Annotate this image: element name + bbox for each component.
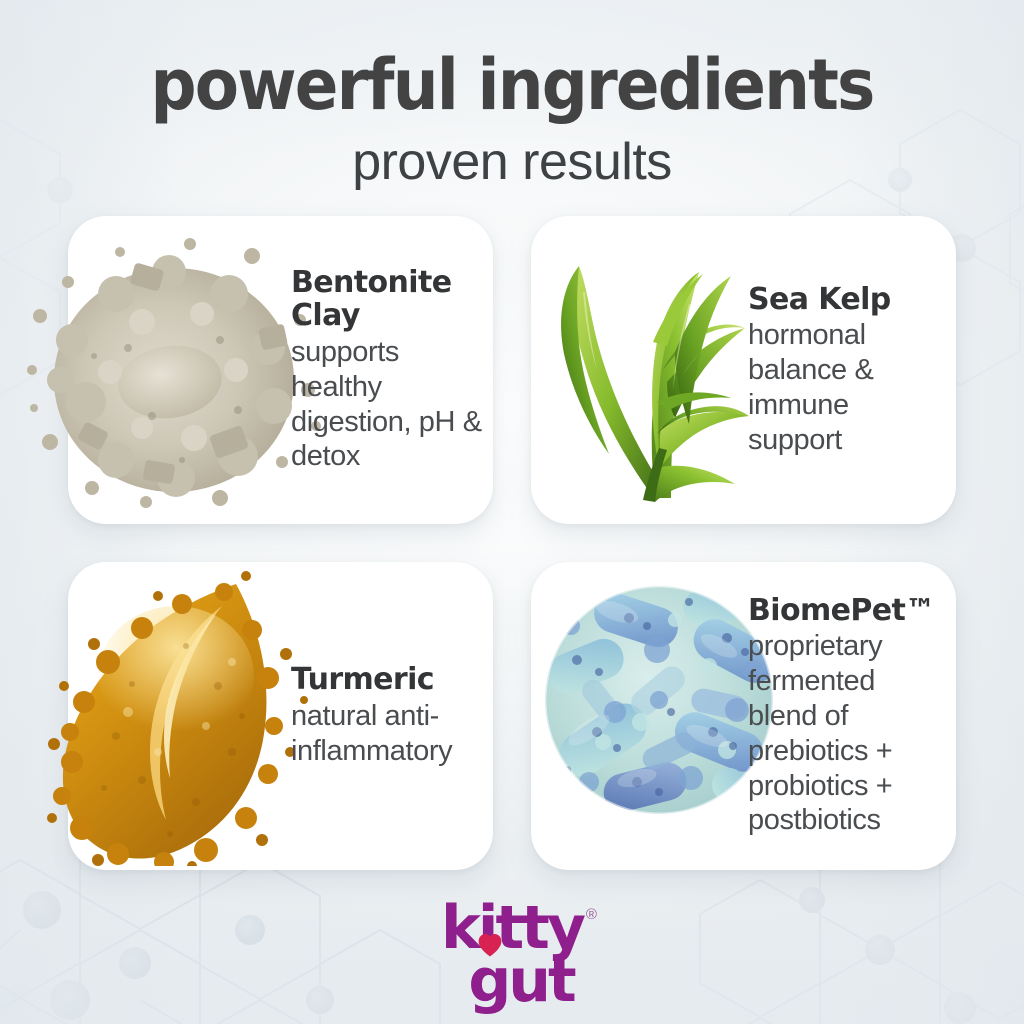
ingredient-title: Bentonite Clay: [291, 266, 491, 333]
brand-logo[interactable]: kitty gut ®: [0, 904, 1024, 1006]
clay-powder-image: [24, 230, 324, 520]
infographic-canvas: powerful ingredients proven results: [0, 0, 1024, 1024]
registered-trademark-mark: ®: [586, 906, 597, 923]
page-subtitle: proven results: [0, 136, 1024, 188]
brand-logo-word-gut: gut: [459, 957, 583, 1006]
ingredient-title: Sea Kelp: [748, 283, 948, 317]
ingredient-text-block: Turmeric natural anti-inflammatory: [291, 663, 491, 768]
ingredient-title: BiomePet™: [748, 594, 948, 628]
ingredient-text-block: Sea Kelp hormonal balance & immune suppo…: [748, 283, 948, 458]
brand-logo-inner: kitty gut ®: [441, 904, 583, 1006]
sea-kelp-image: [539, 232, 769, 507]
ingredient-card-grid: Bentonite Clay supports healthy digestio…: [68, 216, 956, 876]
ingredient-card-turmeric[interactable]: Turmeric natural anti-inflammatory: [68, 562, 493, 870]
header: powerful ingredients proven results: [0, 50, 1024, 188]
ingredient-description: proprietary fermented blend of prebiotic…: [748, 629, 948, 838]
probiotic-microscopy-image: [541, 582, 777, 818]
ingredient-card-bentonite-clay[interactable]: Bentonite Clay supports healthy digestio…: [68, 216, 493, 524]
ingredient-text-block: Bentonite Clay supports healthy digestio…: [291, 266, 491, 474]
page-title: powerful ingredients: [41, 50, 983, 120]
ingredient-description: hormonal balance & immune support: [748, 318, 948, 457]
turmeric-powder-image: [46, 566, 326, 866]
ingredient-description: supports healthy digestion, pH & detox: [291, 335, 491, 474]
ingredient-title: Turmeric: [291, 663, 491, 697]
ingredient-card-sea-kelp[interactable]: Sea Kelp hormonal balance & immune suppo…: [531, 216, 956, 524]
heart-icon: [477, 932, 503, 958]
ingredient-card-biomepet[interactable]: BiomePet™ proprietary fermented blend of…: [531, 562, 956, 870]
ingredient-text-block: BiomePet™ proprietary fermented blend of…: [748, 594, 948, 838]
ingredient-description: natural anti-inflammatory: [291, 699, 491, 769]
